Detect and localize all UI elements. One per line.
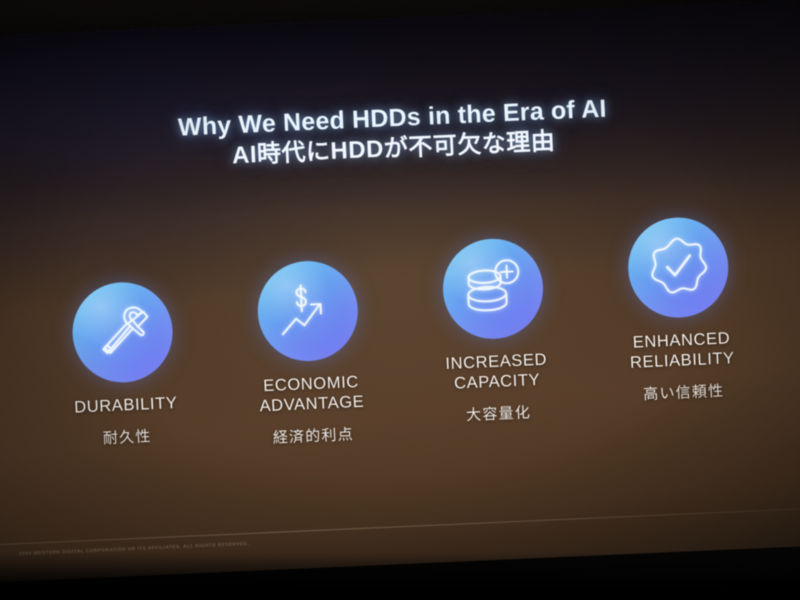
photo-of-presentation-screen: Why We Need HDDs in the Era of AI AI時代にH… [0, 0, 800, 600]
foreground-shadow [0, 552, 800, 600]
projection-screen: Why We Need HDDs in the Era of AI AI時代にH… [0, 0, 800, 582]
screen-vignette [0, 0, 800, 582]
